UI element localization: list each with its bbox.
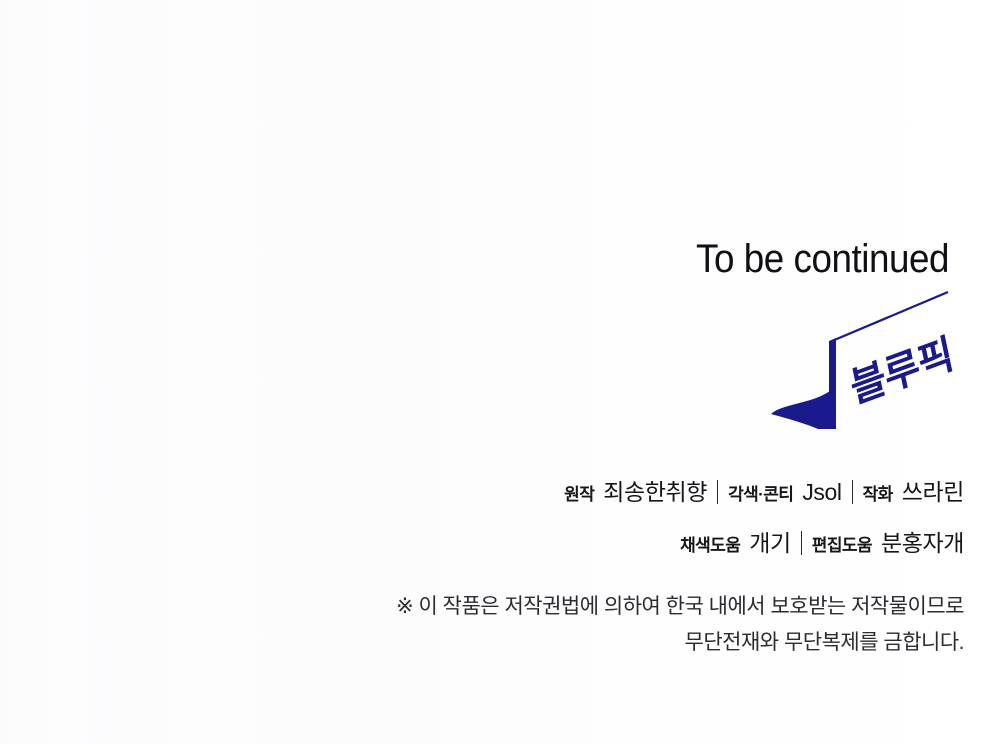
- credit-role-edit-assist: 편집도움: [812, 536, 872, 555]
- credit-separator: [852, 480, 853, 504]
- credit-role-original: 원작: [564, 485, 594, 504]
- credit-role-art: 작화: [863, 485, 893, 504]
- to-be-continued-text: To be continued: [76, 236, 949, 282]
- credit-person-art: 쓰라린: [902, 479, 964, 505]
- bluepic-logo-icon: 블루픽: [770, 283, 970, 438]
- end-card-page: To be continued 블루픽 원작죄송한취향각색·콘티Jsol작화쓰라…: [0, 0, 1000, 744]
- credits-line-2: 채색도움개기편집도움분홍자개: [0, 524, 964, 558]
- bluepic-wordmark: 블루픽: [846, 331, 956, 412]
- credit-separator: [717, 480, 718, 504]
- credit-person-adaptation: Jsol: [802, 479, 841, 505]
- copyright-line-2: 무단전재와 무단복제를 금합니다.: [0, 625, 964, 661]
- flag-top-edge: [832, 292, 948, 341]
- bluepic-logo: 블루픽: [770, 283, 970, 438]
- copyright-line-1: ※ 이 작품은 저작권법에 의하여 한국 내에서 보호받는 저작물이므로: [0, 589, 964, 625]
- svg-text:블루픽: 블루픽: [846, 331, 956, 412]
- credit-role-color-assist: 채색도움: [680, 536, 740, 555]
- credit-person-edit-assist: 분홍자개: [881, 530, 964, 556]
- credit-person-original: 죄송한취향: [603, 479, 707, 505]
- credit-role-adaptation: 각색·콘티: [728, 485, 793, 504]
- flag-tail: [771, 391, 832, 429]
- credit-person-color-assist: 개기: [749, 530, 791, 556]
- copyright-notice: ※ 이 작품은 저작권법에 의하여 한국 내에서 보호받는 저작물이므로 무단전…: [0, 589, 964, 661]
- credits-line-1: 원작죄송한취향각색·콘티Jsol작화쓰라린: [0, 473, 964, 507]
- credit-separator: [801, 531, 802, 555]
